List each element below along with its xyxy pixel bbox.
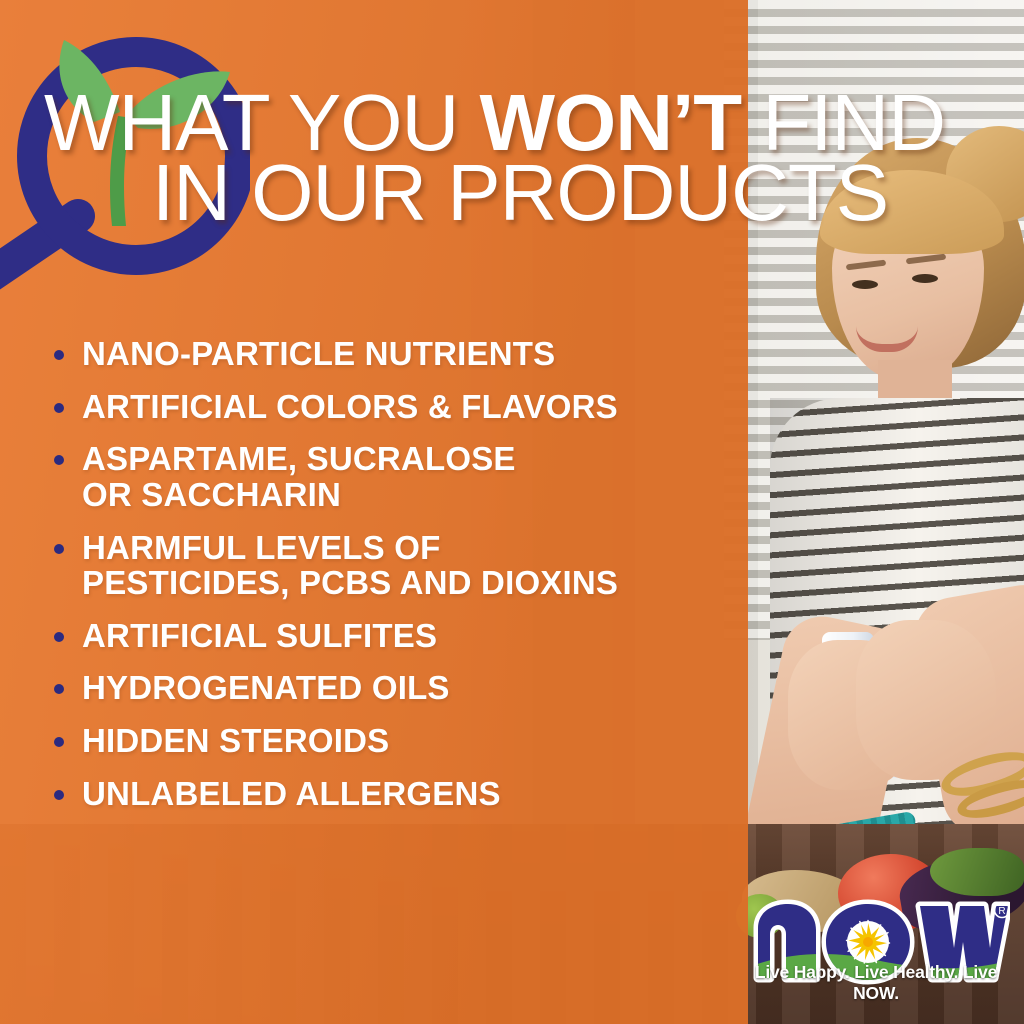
excluded-ingredients-list: NANO-PARTICLE NUTRIENTS ARTIFICIAL COLOR… <box>44 336 744 828</box>
bullet-dot-icon <box>54 632 64 642</box>
bullet-dot-icon <box>54 455 64 465</box>
bullet-dot-icon <box>54 403 64 413</box>
list-item-label: ARTIFICIAL COLORS & FLAVORS <box>82 389 618 425</box>
bullet-dot-icon <box>54 790 64 800</box>
hand-right <box>856 620 996 780</box>
leafy-greens <box>930 848 1024 896</box>
headline-line-2: IN OUR PRODUCTS <box>44 158 974 228</box>
list-item-label: HYDROGENATED OILS <box>82 670 450 706</box>
list-item: ARTIFICIAL SULFITES <box>44 618 744 654</box>
bullet-dot-icon <box>54 350 64 360</box>
promo-graphic: WHAT YOU WON’T FIND IN OUR PRODUCTS NANO… <box>0 0 1024 1024</box>
list-item: NANO-PARTICLE NUTRIENTS <box>44 336 744 372</box>
bullet-dot-icon <box>54 544 64 554</box>
list-item: HYDROGENATED OILS <box>44 670 744 706</box>
eye-right <box>912 274 938 283</box>
list-item: ARTIFICIAL COLORS & FLAVORS <box>44 389 744 425</box>
eye-left <box>852 280 878 289</box>
person-photo <box>760 120 1024 920</box>
svg-text:R: R <box>998 906 1005 917</box>
page-title: WHAT YOU WON’T FIND IN OUR PRODUCTS <box>44 88 974 229</box>
list-item: HARMFUL LEVELS OF PESTICIDES, PCBS AND D… <box>44 530 744 601</box>
list-item-label: HIDDEN STEROIDS <box>82 723 389 759</box>
list-item-label: UNLABELED ALLERGENS <box>82 776 501 812</box>
list-item: UNLABELED ALLERGENS <box>44 776 744 812</box>
bullet-dot-icon <box>54 684 64 694</box>
list-item-label: ASPARTAME, SUCRALOSE OR SACCHARIN <box>82 441 516 512</box>
bullet-dot-icon <box>54 737 64 747</box>
list-item-label: HARMFUL LEVELS OF PESTICIDES, PCBS AND D… <box>82 530 618 601</box>
list-item-label: NANO-PARTICLE NUTRIENTS <box>82 336 555 372</box>
brand-tagline: Live Happy. Live Healthy. Live NOW. <box>742 962 1010 1004</box>
list-item: ASPARTAME, SUCRALOSE OR SACCHARIN <box>44 441 744 512</box>
list-item: HIDDEN STEROIDS <box>44 723 744 759</box>
list-item-label: ARTIFICIAL SULFITES <box>82 618 437 654</box>
